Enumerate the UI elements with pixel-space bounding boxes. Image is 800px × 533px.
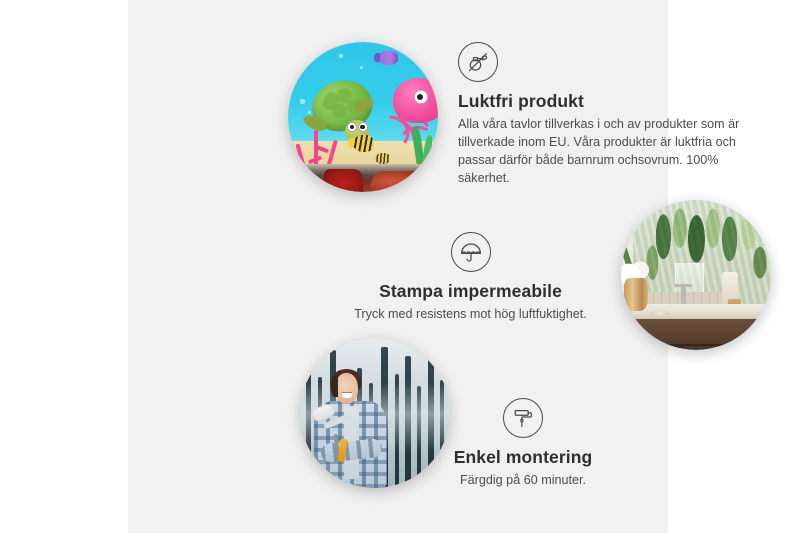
yellow-striped-fish-illustration (353, 135, 374, 152)
bathroom-photo-inner (621, 200, 771, 350)
feature-block-odourless: Luktfri produkt Alla våra tavlor tillver… (458, 42, 752, 188)
hair-side (331, 376, 338, 397)
bathroom-tropical-wallpaper-photo (621, 200, 771, 350)
feature-title: Luktfri produkt (458, 91, 752, 112)
underwater-foreground-strip (288, 164, 438, 193)
feature-description: Färgdig på 60 minuter. (408, 472, 638, 490)
cabinet-handle (762, 345, 765, 349)
gold-vase (624, 278, 648, 311)
face (335, 373, 358, 403)
paint-roller-icon (503, 398, 543, 438)
wooden-vanity-cabinet (630, 319, 771, 351)
no-odour-perfume-icon (458, 42, 498, 82)
bubble-icon (300, 99, 305, 104)
feature-description: Tryck med resistens mot hög luftfuktighe… (328, 306, 613, 324)
umbrella-icon (451, 232, 491, 272)
feature-block-waterproof: Stampa impermeabile Tryck med resistens … (328, 232, 613, 324)
feature-title: Enkel montering (408, 447, 638, 468)
underwater-cartoon-mural-photo (288, 42, 438, 192)
bubble-icon (339, 54, 343, 58)
bubble-icon (308, 111, 311, 114)
sea-turtle-eye (347, 122, 357, 132)
soap-dish (651, 310, 669, 318)
screenshot-stage: Luktfri produkt Alla våra tavlor tillver… (0, 0, 800, 533)
cabinet-handle (748, 345, 751, 349)
octopus-eye (414, 90, 428, 104)
faucet-icon (681, 284, 686, 304)
underwater-photo-inner (288, 42, 438, 192)
purple-fish-illustration (378, 51, 398, 65)
smile (342, 393, 352, 398)
woman-figure (309, 371, 396, 488)
feature-description: Alla våra tavlor tillverkas i och av pro… (458, 116, 752, 188)
feature-title: Stampa impermeabile (328, 281, 613, 302)
feature-block-easy-mount: Enkel montering Färgdig på 60 minuter. (408, 398, 638, 490)
feature-panel: Luktfri produkt Alla våra tavlor tillver… (128, 0, 668, 533)
drawer-handle (653, 345, 684, 348)
small-fish-illustration (375, 153, 390, 164)
